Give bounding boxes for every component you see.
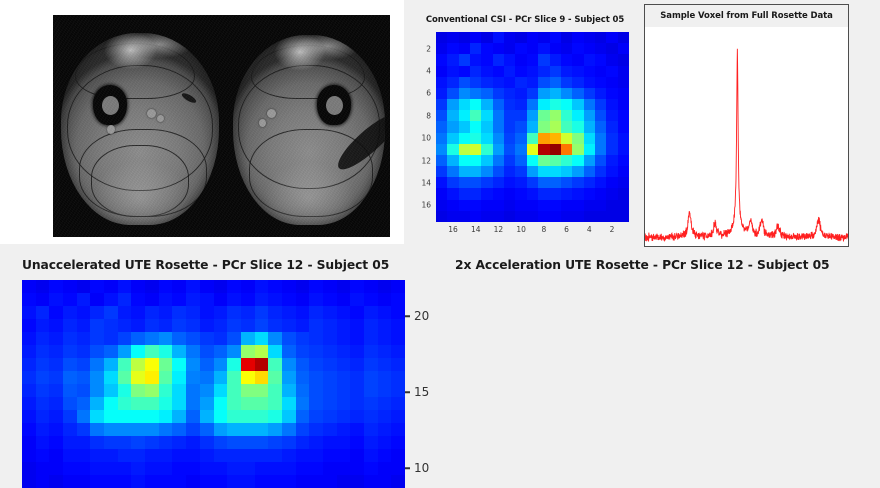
heatmap-cell <box>131 410 145 423</box>
heatmap-cell <box>493 88 504 99</box>
heatmap-cell <box>255 449 269 462</box>
heatmap-cell <box>550 110 561 121</box>
heatmap-cell <box>391 293 405 306</box>
heatmap-cell <box>77 462 91 475</box>
heatmap-cell <box>538 110 549 121</box>
heatmap-cell <box>131 462 145 475</box>
heatmap-cell <box>186 345 200 358</box>
heatmap-cell <box>77 475 91 488</box>
heatmap-cell <box>77 371 91 384</box>
heatmap-cell <box>515 32 526 43</box>
heatmap-cell <box>572 121 583 132</box>
heatmap-cell <box>504 54 515 65</box>
fascia-plane <box>79 129 207 217</box>
heatmap-cell <box>584 121 595 132</box>
heatmap-cell <box>470 177 481 188</box>
heatmap-cell <box>459 188 470 199</box>
heatmap-cell <box>337 332 351 345</box>
heatmap-cell <box>481 121 492 132</box>
heatmap-cell <box>131 384 145 397</box>
heatmap-cell <box>493 54 504 65</box>
heatmap-cell <box>515 121 526 132</box>
heatmap-cell <box>22 423 36 436</box>
heatmap-cell <box>378 280 392 293</box>
heatmap-cell <box>214 397 228 410</box>
heatmap-cell <box>538 54 549 65</box>
heatmap-cell <box>538 43 549 54</box>
heatmap-cell <box>104 436 118 449</box>
heatmap-cell <box>90 462 104 475</box>
heatmap-cell <box>282 345 296 358</box>
heatmap-cell <box>296 397 310 410</box>
heatmap-cell <box>241 280 255 293</box>
heatmap-cell <box>77 332 91 345</box>
heatmap-cell <box>172 319 186 332</box>
unaccelerated-heatmap-grid <box>22 280 405 488</box>
heatmap-cell <box>296 410 310 423</box>
heatmap-cell <box>350 397 364 410</box>
heatmap-cell <box>436 32 447 43</box>
heatmap-cell <box>470 66 481 77</box>
heatmap-cell <box>159 475 173 488</box>
heatmap-cell <box>186 436 200 449</box>
heatmap-cell <box>22 384 36 397</box>
heatmap-cell <box>504 166 515 177</box>
heatmap-cell <box>309 423 323 436</box>
heatmap-cell <box>159 280 173 293</box>
heatmap-cell <box>504 200 515 211</box>
csi-heatmap[interactable] <box>436 32 629 222</box>
csi-y-tick: 4 <box>426 67 431 76</box>
heatmap-cell <box>436 188 447 199</box>
heatmap-cell <box>227 384 241 397</box>
heatmap-cell <box>36 371 50 384</box>
heatmap-cell <box>49 423 63 436</box>
fascia-plane <box>67 65 213 191</box>
heatmap-cell <box>145 397 159 410</box>
heatmap-cell <box>504 99 515 110</box>
heatmap-cell <box>436 66 447 77</box>
heatmap-cell <box>77 280 91 293</box>
heatmap-cell <box>470 88 481 99</box>
heatmap-cell <box>241 358 255 371</box>
heatmap-cell <box>104 332 118 345</box>
heatmap-cell <box>49 475 63 488</box>
heatmap-cell <box>131 397 145 410</box>
heatmap-cell <box>595 121 606 132</box>
heatmap-cell <box>550 121 561 132</box>
heatmap-cell <box>186 306 200 319</box>
heatmap-cell <box>145 436 159 449</box>
heatmap-cell <box>323 371 337 384</box>
heatmap-cell <box>241 332 255 345</box>
heatmap-cell <box>131 358 145 371</box>
bone-marrow <box>102 96 119 115</box>
heatmap-cell <box>470 133 481 144</box>
heatmap-cell <box>309 384 323 397</box>
heatmap-cell <box>77 410 91 423</box>
heatmap-cell <box>118 449 132 462</box>
heatmap-cell <box>470 77 481 88</box>
heatmap-cell <box>145 410 159 423</box>
heatmap-cell <box>159 384 173 397</box>
heatmap-cell <box>227 345 241 358</box>
heatmap-cell <box>436 200 447 211</box>
heatmap-cell <box>118 462 132 475</box>
heatmap-cell <box>323 280 337 293</box>
heatmap-cell <box>606 133 617 144</box>
heatmap-cell <box>391 332 405 345</box>
heatmap-cell <box>36 410 50 423</box>
heatmap-cell <box>572 188 583 199</box>
heatmap-cell <box>378 319 392 332</box>
heatmap-cell <box>104 462 118 475</box>
heatmap-cell <box>22 345 36 358</box>
heatmap-cell <box>296 371 310 384</box>
heatmap-cell <box>131 475 145 488</box>
heatmap-cell <box>561 155 572 166</box>
heatmap-cell <box>214 306 228 319</box>
heatmap-cell <box>255 345 269 358</box>
heatmap-cell <box>572 77 583 88</box>
heatmap-cell <box>49 293 63 306</box>
heatmap-cell <box>481 177 492 188</box>
heatmap-cell <box>227 397 241 410</box>
heatmap-cell <box>200 423 214 436</box>
heatmap-cell <box>436 166 447 177</box>
heatmap-cell <box>459 99 470 110</box>
heatmap-cell <box>22 397 36 410</box>
heatmap-cell <box>504 133 515 144</box>
heatmap-cell <box>337 306 351 319</box>
heatmap-cell <box>296 384 310 397</box>
heatmap-cell <box>268 280 282 293</box>
heatmap-cell <box>493 110 504 121</box>
heatmap-cell <box>618 155 629 166</box>
heatmap-cell <box>595 43 606 54</box>
tissue-streak <box>181 91 198 104</box>
heatmap-cell <box>104 475 118 488</box>
heatmap-cell <box>36 397 50 410</box>
heatmap-cell <box>282 475 296 488</box>
heatmap-cell <box>504 211 515 222</box>
heatmap-cell <box>493 144 504 155</box>
heatmap-cell <box>49 384 63 397</box>
heatmap-cell <box>36 384 50 397</box>
heatmap-cell <box>22 358 36 371</box>
heatmap-cell <box>323 358 337 371</box>
heatmap-cell <box>538 77 549 88</box>
heatmap-cell <box>561 99 572 110</box>
heatmap-cell <box>145 358 159 371</box>
heatmap-cell <box>214 423 228 436</box>
heatmap-cell <box>77 345 91 358</box>
heatmap-cell <box>323 397 337 410</box>
spectrum-plot-area[interactable] <box>645 27 848 246</box>
heatmap-cell <box>337 384 351 397</box>
heatmap-cell <box>255 397 269 410</box>
heatmap-cell <box>36 449 50 462</box>
heatmap-cell <box>186 423 200 436</box>
heatmap-cell <box>63 410 77 423</box>
heatmap-cell <box>159 293 173 306</box>
heatmap-cell <box>104 306 118 319</box>
heatmap-cell <box>436 77 447 88</box>
fascia-plane <box>251 45 365 99</box>
heatmap-cell <box>447 155 458 166</box>
heatmap-cell <box>104 410 118 423</box>
heatmap-cell <box>515 110 526 121</box>
heatmap-cell <box>63 319 77 332</box>
heatmap-cell <box>447 188 458 199</box>
heatmap-cell <box>104 397 118 410</box>
heatmap-cell <box>214 462 228 475</box>
heatmap-cell <box>268 319 282 332</box>
heatmap-cell <box>36 462 50 475</box>
heatmap-cell <box>323 319 337 332</box>
heatmap-cell <box>49 436 63 449</box>
heatmap-cell <box>172 384 186 397</box>
heatmap-cell <box>172 462 186 475</box>
heatmap-cell <box>159 371 173 384</box>
heatmap-cell <box>504 121 515 132</box>
heatmap-cell <box>504 43 515 54</box>
heatmap-cell <box>90 384 104 397</box>
heatmap-cell <box>481 211 492 222</box>
heatmap-cell <box>481 133 492 144</box>
heatmap-cell <box>515 43 526 54</box>
heatmap-cell <box>241 345 255 358</box>
heatmap-cell <box>22 436 36 449</box>
heatmap-cell <box>606 77 617 88</box>
heatmap-cell <box>227 423 241 436</box>
heatmap-cell <box>364 371 378 384</box>
femur-bone <box>317 85 351 125</box>
heatmap-cell <box>538 133 549 144</box>
heatmap-cell <box>561 54 572 65</box>
heatmap-cell <box>145 319 159 332</box>
heatmap-cell <box>131 345 145 358</box>
heatmap-cell <box>255 423 269 436</box>
heatmap-cell <box>618 177 629 188</box>
heatmap-cell <box>481 99 492 110</box>
heatmap-cell <box>378 436 392 449</box>
heatmap-cell <box>282 319 296 332</box>
heatmap-cell <box>447 66 458 77</box>
heatmap-cell <box>77 423 91 436</box>
heatmap-cell <box>350 293 364 306</box>
csi-x-axis: 161412108642 <box>436 223 629 239</box>
heatmap-cell <box>538 99 549 110</box>
heatmap-cell <box>227 280 241 293</box>
heatmap-cell <box>104 293 118 306</box>
heatmap-cell <box>584 99 595 110</box>
heatmap-cell <box>481 43 492 54</box>
heatmap-cell <box>606 200 617 211</box>
heatmap-cell <box>337 475 351 488</box>
heatmap-cell <box>550 155 561 166</box>
heatmap-cell <box>618 77 629 88</box>
heatmap-cell <box>337 280 351 293</box>
heatmap-cell <box>104 371 118 384</box>
heatmap-cell <box>527 155 538 166</box>
heatmap-cell <box>172 293 186 306</box>
heatmap-cell <box>241 423 255 436</box>
heatmap-cell <box>337 319 351 332</box>
heatmap-cell <box>481 166 492 177</box>
heatmap-cell <box>63 436 77 449</box>
unaccelerated-heatmap[interactable] <box>22 280 405 488</box>
heatmap-cell <box>282 449 296 462</box>
heatmap-cell <box>584 211 595 222</box>
heatmap-cell <box>515 77 526 88</box>
heatmap-cell <box>255 293 269 306</box>
heatmap-cell <box>364 462 378 475</box>
heatmap-cell <box>606 88 617 99</box>
heatmap-cell <box>561 144 572 155</box>
heatmap-cell <box>527 144 538 155</box>
heatmap-cell <box>227 449 241 462</box>
heatmap-cell <box>493 77 504 88</box>
heatmap-cell <box>527 188 538 199</box>
heatmap-cell <box>337 358 351 371</box>
heatmap-cell <box>527 54 538 65</box>
heatmap-cell <box>145 345 159 358</box>
heatmap-cell <box>364 280 378 293</box>
heatmap-cell <box>241 319 255 332</box>
heatmap-cell <box>584 110 595 121</box>
heatmap-cell <box>268 397 282 410</box>
heatmap-cell <box>584 166 595 177</box>
heatmap-cell <box>104 423 118 436</box>
heatmap-cell <box>36 475 50 488</box>
heatmap-cell <box>550 32 561 43</box>
heatmap-cell <box>255 436 269 449</box>
heatmap-cell <box>337 397 351 410</box>
heatmap-cell <box>447 144 458 155</box>
heatmap-cell <box>595 77 606 88</box>
heatmap-cell <box>550 66 561 77</box>
heatmap-cell <box>255 280 269 293</box>
heatmap-cell <box>118 345 132 358</box>
heatmap-cell <box>447 99 458 110</box>
heatmap-cell <box>241 475 255 488</box>
heatmap-cell <box>159 423 173 436</box>
heatmap-cell <box>63 358 77 371</box>
heatmap-cell <box>282 397 296 410</box>
heatmap-cell <box>470 155 481 166</box>
heatmap-cell <box>63 293 77 306</box>
heatmap-cell <box>337 462 351 475</box>
heatmap-cell <box>527 133 538 144</box>
heatmap-cell <box>309 397 323 410</box>
heatmap-cell <box>186 449 200 462</box>
heatmap-cell <box>538 32 549 43</box>
heatmap-cell <box>159 449 173 462</box>
heatmap-cell <box>481 66 492 77</box>
heatmap-cell <box>584 177 595 188</box>
heatmap-cell <box>214 410 228 423</box>
heatmap-cell <box>309 306 323 319</box>
heatmap-cell <box>470 211 481 222</box>
heatmap-cell <box>36 345 50 358</box>
heatmap-cell <box>459 77 470 88</box>
heatmap-cell <box>296 332 310 345</box>
heatmap-cell <box>364 397 378 410</box>
heatmap-cell <box>227 475 241 488</box>
heatmap-cell <box>515 188 526 199</box>
heatmap-cell <box>131 436 145 449</box>
heatmap-cell <box>606 188 617 199</box>
heatmap-cell <box>606 43 617 54</box>
csi-y-tick: 12 <box>421 156 431 165</box>
heatmap-cell <box>606 99 617 110</box>
heatmap-cell <box>241 449 255 462</box>
heatmap-cell <box>515 88 526 99</box>
heatmap-cell <box>77 358 91 371</box>
heatmap-cell <box>22 371 36 384</box>
csi-x-tick: 4 <box>587 225 592 234</box>
heatmap-cell <box>618 43 629 54</box>
heatmap-cell <box>172 449 186 462</box>
heatmap-cell <box>561 88 572 99</box>
heatmap-cell <box>309 371 323 384</box>
heatmap-cell <box>550 188 561 199</box>
heatmap-cell <box>459 166 470 177</box>
heatmap-cell <box>200 358 214 371</box>
heatmap-cell <box>350 449 364 462</box>
heatmap-cell <box>131 319 145 332</box>
heatmap-cell <box>618 211 629 222</box>
heatmap-cell <box>504 155 515 166</box>
heatmap-cell <box>391 345 405 358</box>
heatmap-cell <box>459 200 470 211</box>
heatmap-cell <box>572 144 583 155</box>
heatmap-cell <box>172 475 186 488</box>
heatmap-cell <box>378 306 392 319</box>
heatmap-cell <box>538 200 549 211</box>
heatmap-cell <box>550 177 561 188</box>
heatmap-cell <box>584 133 595 144</box>
heatmap-cell <box>63 371 77 384</box>
heatmap-cell <box>538 211 549 222</box>
accelerated-panel-title: 2x Acceleration UTE Rosette - PCr Slice … <box>455 258 829 272</box>
heatmap-cell <box>227 358 241 371</box>
heatmap-cell <box>90 371 104 384</box>
heatmap-cell <box>131 371 145 384</box>
heatmap-cell <box>282 332 296 345</box>
heatmap-cell <box>572 166 583 177</box>
heatmap-cell <box>584 144 595 155</box>
heatmap-cell <box>118 436 132 449</box>
heatmap-cell <box>391 410 405 423</box>
heatmap-cell <box>436 211 447 222</box>
heatmap-cell <box>595 133 606 144</box>
heatmap-cell <box>618 32 629 43</box>
heatmap-cell <box>282 410 296 423</box>
heatmap-cell <box>481 32 492 43</box>
heatmap-cell <box>282 280 296 293</box>
heatmap-cell <box>538 166 549 177</box>
heatmap-cell <box>447 211 458 222</box>
heatmap-cell <box>90 475 104 488</box>
heatmap-cell <box>118 384 132 397</box>
heatmap-cell <box>378 397 392 410</box>
heatmap-cell <box>470 54 481 65</box>
heatmap-cell <box>378 332 392 345</box>
heatmap-cell <box>606 121 617 132</box>
heatmap-cell <box>515 54 526 65</box>
